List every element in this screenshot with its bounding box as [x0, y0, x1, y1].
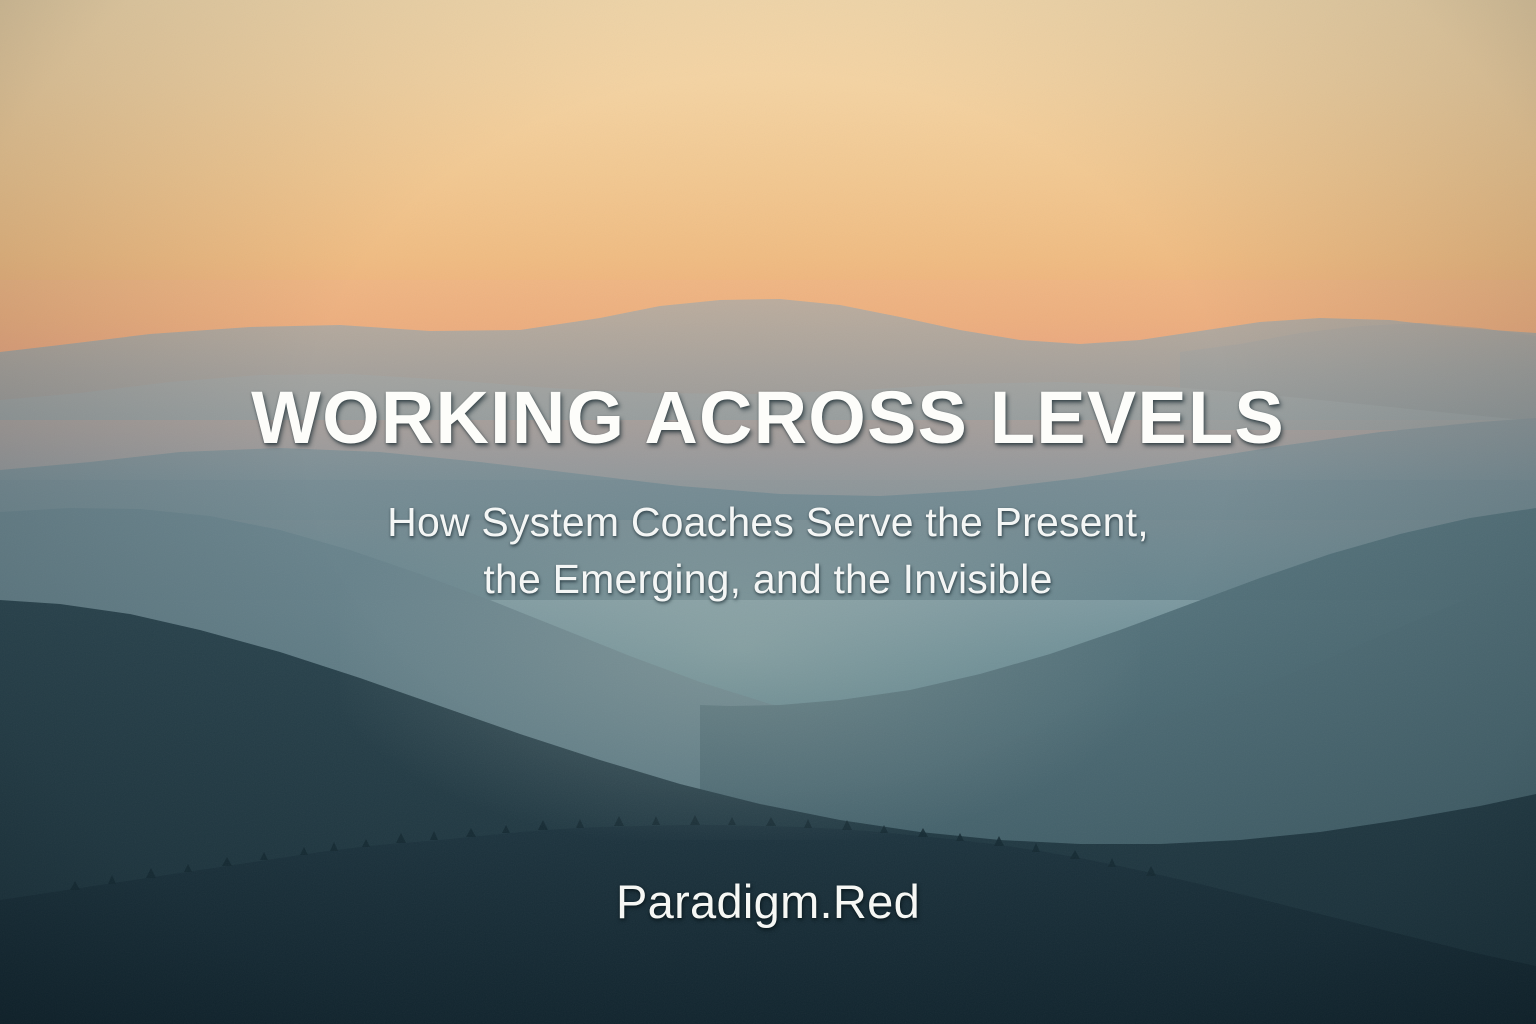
title-slide: WORKING ACROSS LEVELS How System Coaches… [0, 0, 1536, 1024]
slide-title: WORKING ACROSS LEVELS [0, 381, 1536, 455]
slide-subtitle-line-1: How System Coaches Serve the Present, [0, 494, 1536, 551]
slide-subtitle: How System Coaches Serve the Present, th… [0, 494, 1536, 609]
slide-subtitle-line-2: the Emerging, and the Invisible [0, 551, 1536, 608]
brand-wordmark: Paradigm.Red [0, 874, 1536, 929]
text-overlay: WORKING ACROSS LEVELS How System Coaches… [0, 0, 1536, 1024]
